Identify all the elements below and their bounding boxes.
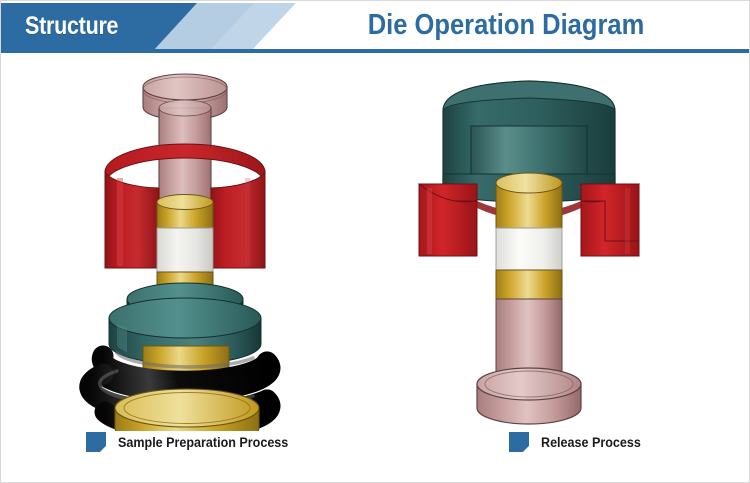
page-title: Die Operation Diagram <box>308 6 704 44</box>
ejector-base <box>477 368 581 424</box>
blue-square-marker-icon <box>509 432 529 452</box>
left-caption-label: Sample Preparation Process <box>118 435 288 450</box>
left-diagram-panel <box>31 56 371 431</box>
header-bottom-rule <box>1 49 750 53</box>
page-header: Structure Die Operation Diagram <box>1 1 750 56</box>
right-caption: Release Process <box>509 431 648 453</box>
gold-ring-top <box>157 195 213 229</box>
structure-tab-label[interactable]: Structure <box>25 9 154 43</box>
gold-base-plate <box>115 389 259 431</box>
sample-preparation-diagram <box>31 56 371 431</box>
diagram-stage <box>1 56 750 431</box>
gold-ring-top <box>496 173 562 228</box>
gold-ring-bottom <box>496 270 562 299</box>
sample-pellet <box>496 228 562 270</box>
sample-pellet <box>157 228 213 272</box>
right-diagram-panel <box>401 56 731 431</box>
blue-square-marker-icon <box>86 432 106 452</box>
left-caption: Sample Preparation Process <box>86 431 301 453</box>
release-process-diagram <box>401 56 731 431</box>
right-caption-label: Release Process <box>541 435 641 450</box>
die-operation-diagram-page: Structure Die Operation Diagram <box>0 0 750 483</box>
